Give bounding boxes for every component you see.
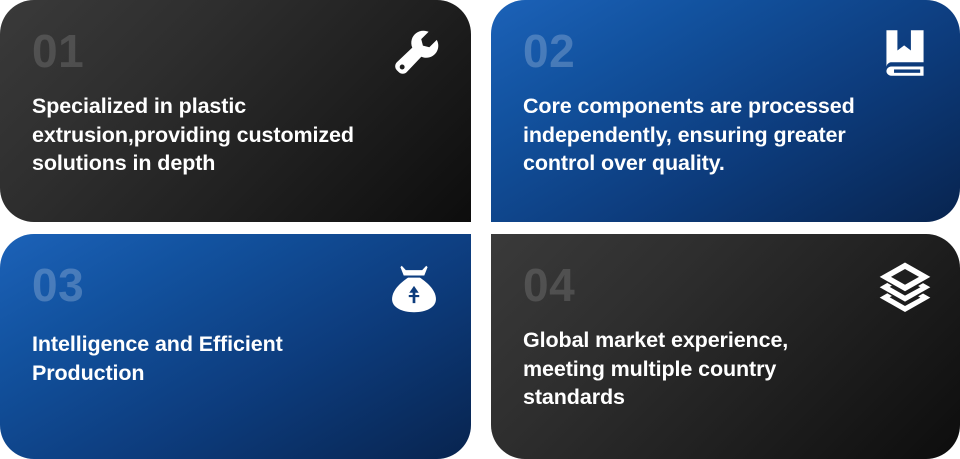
card-number-02: 02 [523,28,934,74]
card-text-03: Intelligence and Efficient Production [32,330,445,387]
card-number-01: 01 [32,28,445,74]
feature-card-grid: 01 Specialized in plastic extrusion,prov… [0,0,960,459]
card-text-01: Specialized in plastic extrusion,providi… [32,92,445,178]
feature-card-02[interactable]: 02 Core components are processed indepen… [491,0,960,222]
card-number-03: 03 [32,262,445,308]
feature-card-03[interactable]: 03 Intelligence and Efficient Production [0,234,471,459]
card-text-02: Core components are processed independen… [523,92,934,178]
card-text-04: Global market experience, meeting multip… [523,326,934,412]
card-number-04: 04 [523,262,934,308]
feature-card-04[interactable]: 04 Global market experience, meeting mul… [491,234,960,459]
feature-card-01[interactable]: 01 Specialized in plastic extrusion,prov… [0,0,471,222]
